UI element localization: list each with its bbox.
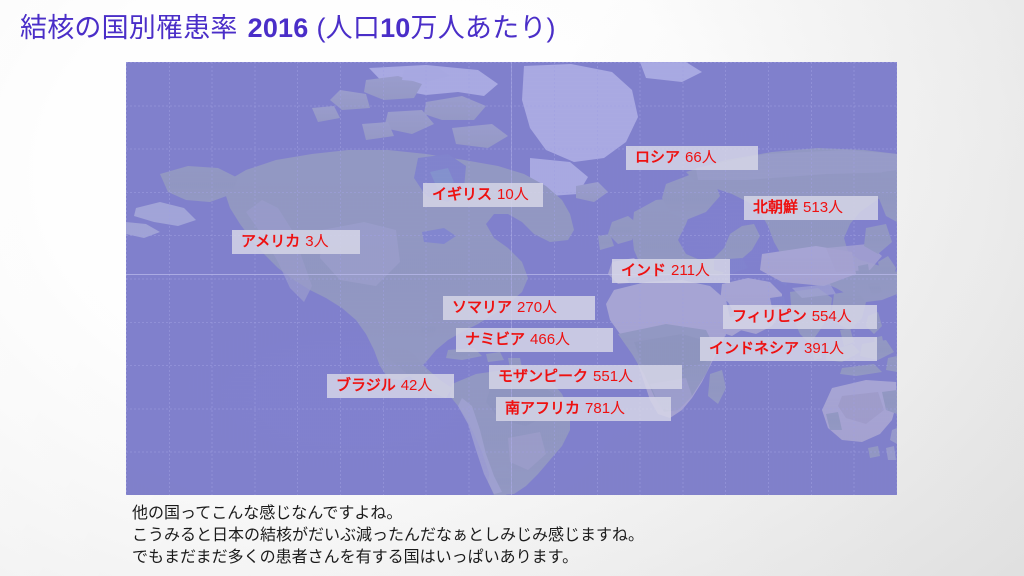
title-paren-tail: 万人あたり) xyxy=(411,13,556,43)
title-paren-number: 10 xyxy=(380,13,410,43)
country-value-russia: 66人 xyxy=(685,149,717,166)
country-name-uk: イギリス xyxy=(432,186,492,203)
country-label-brazil: ブラジル42人 xyxy=(327,374,454,398)
country-name-indonesia: インドネシア xyxy=(709,340,799,357)
title-year: 2016 xyxy=(248,13,309,43)
country-value-philippines: 554人 xyxy=(812,308,852,325)
country-name-brazil: ブラジル xyxy=(336,377,396,394)
country-value-north-korea: 513人 xyxy=(803,199,843,216)
country-label-philippines: フィリピン554人 xyxy=(723,305,877,329)
country-value-south-africa: 781人 xyxy=(585,400,625,417)
country-label-south-africa: 南アフリカ781人 xyxy=(496,397,671,421)
country-name-north-korea: 北朝鮮 xyxy=(753,199,798,216)
country-value-india: 211人 xyxy=(671,262,710,279)
country-value-uk: 10人 xyxy=(497,186,529,203)
country-name-usa: アメリカ xyxy=(241,233,300,250)
country-name-philippines: フィリピン xyxy=(732,308,807,325)
country-label-usa: アメリカ3人 xyxy=(232,230,360,254)
caption-block: 他の国ってこんな感じなんですよね。 こうみると日本の結核がだいぶ減ったんだなぁと… xyxy=(132,503,644,569)
world-map xyxy=(126,62,897,495)
country-value-usa: 3人 xyxy=(305,233,328,250)
country-label-mozambique: モザンピーク551人 xyxy=(489,365,682,389)
country-value-namibia: 466人 xyxy=(530,331,570,348)
page-title: 結核の国別罹患率2016(人口10万人あたり) xyxy=(20,9,556,47)
title-paren-open: (人口 xyxy=(316,13,380,43)
caption-line-1: 他の国ってこんな感じなんですよね。 xyxy=(132,503,644,525)
country-value-indonesia: 391人 xyxy=(804,340,844,357)
slide-canvas: 結核の国別罹患率2016(人口10万人あたり) xyxy=(0,0,1024,576)
country-label-indonesia: インドネシア391人 xyxy=(700,337,877,361)
country-label-somalia: ソマリア270人 xyxy=(443,296,595,320)
caption-line-3: でもまだまだ多くの患者さんを有する国はいっぱいあります。 xyxy=(132,547,644,569)
country-name-somalia: ソマリア xyxy=(452,299,512,316)
country-name-russia: ロシア xyxy=(635,149,680,166)
country-name-mozambique: モザンピーク xyxy=(498,368,588,385)
country-name-namibia: ナミビア xyxy=(465,331,525,348)
country-label-north-korea: 北朝鮮513人 xyxy=(744,196,878,220)
caption-line-2: こうみると日本の結核がだいぶ減ったんだなぁとしみじみ感じますね。 xyxy=(132,525,644,547)
title-main-text: 結核の国別罹患率 xyxy=(20,13,238,43)
country-label-uk: イギリス10人 xyxy=(423,183,543,207)
country-label-namibia: ナミビア466人 xyxy=(456,328,613,352)
country-name-india: インド xyxy=(621,262,666,279)
country-value-somalia: 270人 xyxy=(517,299,557,316)
country-label-india: インド211人 xyxy=(612,259,730,283)
map-prime-meridian xyxy=(511,62,512,495)
country-value-mozambique: 551人 xyxy=(593,368,633,385)
title-parenthetical: (人口10万人あたり) xyxy=(316,13,555,43)
country-name-south-africa: 南アフリカ xyxy=(505,400,580,417)
country-label-russia: ロシア66人 xyxy=(626,146,758,170)
country-value-brazil: 42人 xyxy=(401,377,433,394)
